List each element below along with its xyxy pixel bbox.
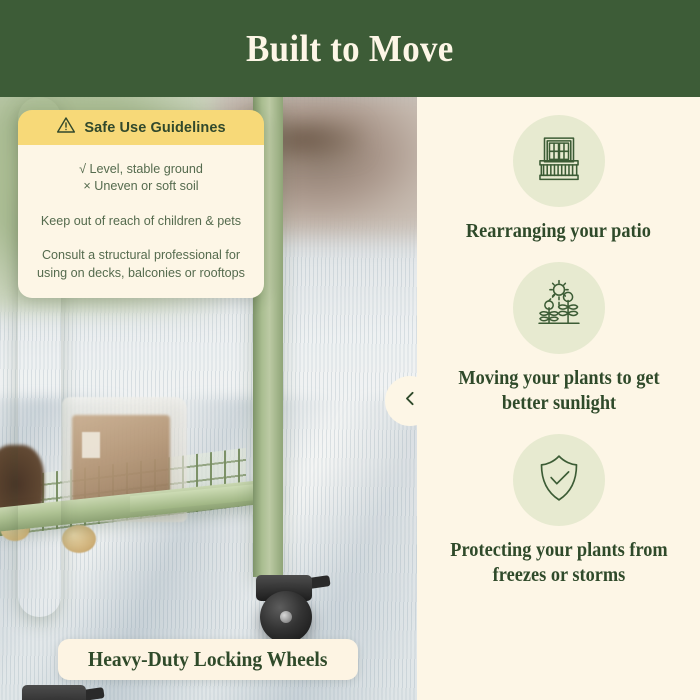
photo-caption-text: Heavy-Duty Locking Wheels bbox=[88, 647, 327, 672]
feature-list-panel: Rearranging your patio bbox=[417, 97, 700, 700]
guideline-structural: Consult a structural professional for us… bbox=[32, 247, 250, 282]
header-banner: Built to Move bbox=[0, 0, 700, 97]
feature-item-patio: Rearranging your patio bbox=[417, 115, 700, 244]
bulb-right bbox=[62, 525, 96, 553]
safe-use-card-header: Safe Use Guidelines bbox=[18, 110, 264, 145]
feature-icon-circle bbox=[513, 262, 605, 354]
soil-bag-label bbox=[82, 432, 100, 458]
feature-label-protection: Protecting your plants from freezes or s… bbox=[446, 539, 672, 588]
safe-use-card-body: √ Level, stable ground × Uneven or soft … bbox=[18, 145, 264, 298]
safe-use-guidelines-card: Safe Use Guidelines √ Level, stable grou… bbox=[18, 110, 264, 298]
carousel-prev-button[interactable] bbox=[385, 376, 435, 426]
caster-housing bbox=[22, 685, 86, 700]
feature-icon-circle bbox=[513, 434, 605, 526]
sun-plants-icon bbox=[530, 277, 588, 340]
caster-hub bbox=[280, 611, 292, 623]
guideline-children: Keep out of reach of children & pets bbox=[32, 213, 250, 230]
warning-triangle-icon bbox=[56, 115, 76, 140]
feature-item-sunlight: Moving your plants to get better sunligh… bbox=[417, 262, 700, 416]
guideline-do: √ Level, stable ground bbox=[32, 161, 250, 178]
feature-label-patio: Rearranging your patio bbox=[466, 220, 651, 244]
chevron-left-icon bbox=[402, 390, 419, 412]
guideline-dont: × Uneven or soft soil bbox=[32, 178, 250, 195]
product-feature-card: Built to Move bbox=[0, 0, 700, 700]
feature-label-sunlight: Moving your plants to get better sunligh… bbox=[446, 367, 672, 416]
caster-wheel-left bbox=[18, 685, 100, 700]
page-title: Built to Move bbox=[246, 27, 454, 71]
balcony-window-icon bbox=[530, 130, 588, 193]
safe-use-card-title: Safe Use Guidelines bbox=[84, 120, 225, 136]
shield-check-icon bbox=[531, 450, 587, 511]
feature-icon-circle bbox=[513, 115, 605, 207]
feature-item-protection: Protecting your plants from freezes or s… bbox=[417, 434, 700, 588]
photo-caption-pill: Heavy-Duty Locking Wheels bbox=[58, 639, 358, 680]
